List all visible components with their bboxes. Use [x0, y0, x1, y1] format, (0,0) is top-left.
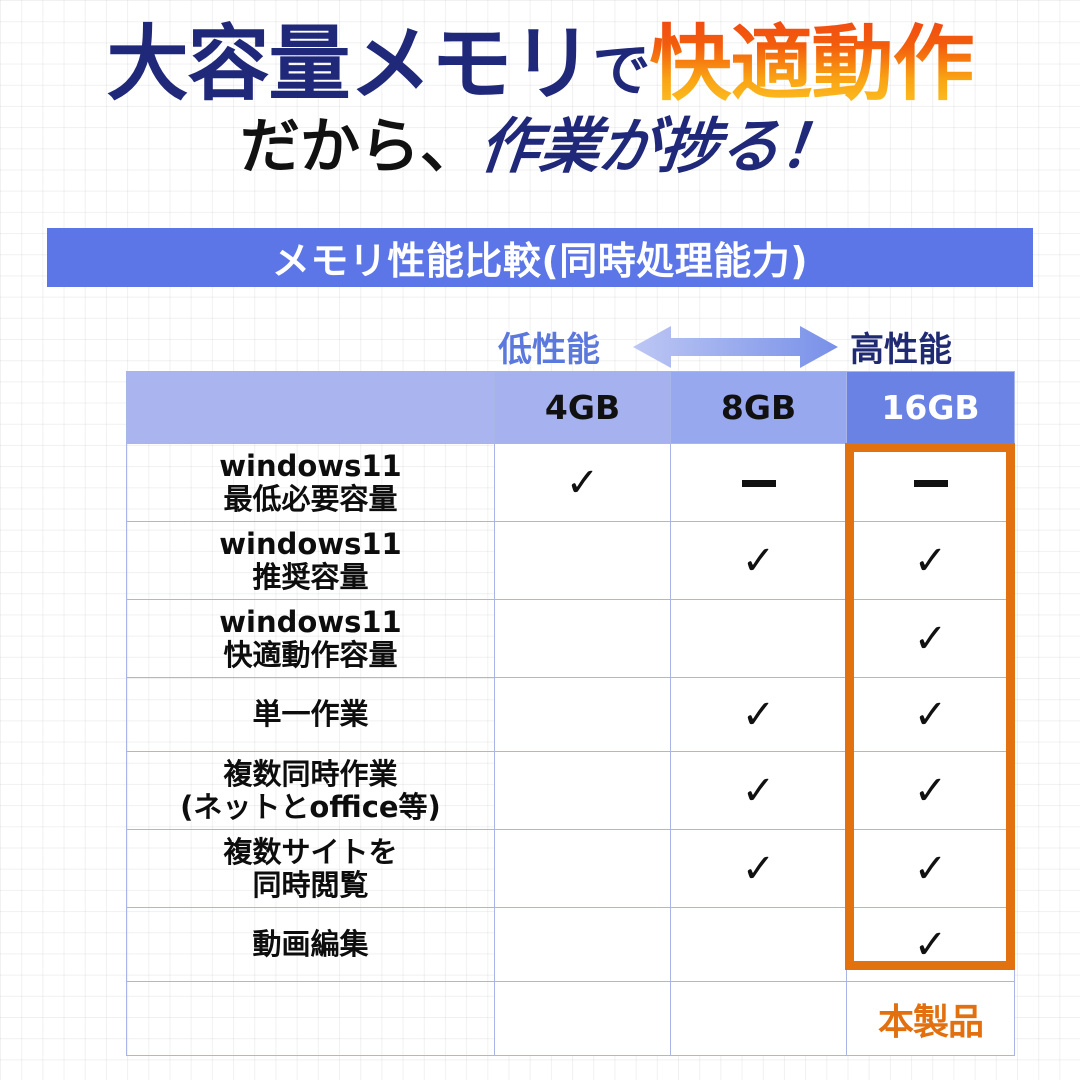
row-label-cell: 単一作業 [127, 678, 495, 752]
cell-check-16gb: ✓ [847, 752, 1015, 830]
cell-empty-4gb [495, 908, 671, 982]
check-icon: ✓ [742, 541, 776, 581]
headline-main-text: 大容量メモリ [106, 17, 592, 112]
row-label-cell: 複数同時作業(ネットとoffice等) [127, 752, 495, 830]
cell-empty-4gb [495, 600, 671, 678]
dash-icon [742, 480, 776, 487]
row-label-cell: windows11最低必要容量 [127, 444, 495, 522]
cell-empty-4gb [495, 752, 671, 830]
table-row: 動画編集✓ [127, 908, 1015, 982]
table-row: 単一作業✓✓ [127, 678, 1015, 752]
row-label-line-2: 快適動作容量 [127, 639, 494, 671]
row-label-line-1: windows11 [127, 606, 494, 638]
table-row: 複数サイトを同時閲覧✓✓ [127, 830, 1015, 908]
cell-check-16gb: ✓ [847, 600, 1015, 678]
check-icon: ✓ [742, 695, 776, 735]
table-head: 4GB 8GB 16GB [127, 372, 1015, 444]
cell-check-8gb: ✓ [671, 752, 847, 830]
table-row: windows11最低必要容量✓ [127, 444, 1015, 522]
table-row: 複数同時作業(ネットとoffice等)✓✓ [127, 752, 1015, 830]
row-label-line-1: 複数同時作業 [127, 758, 494, 790]
row-label-line-1: 単一作業 [127, 698, 494, 730]
headline-gradient-text: 快適動作 [650, 17, 974, 112]
headline-sub-emphasis: 作業が捗る！ [477, 114, 844, 180]
check-icon: ✓ [914, 771, 948, 811]
header-cell-label [127, 372, 495, 444]
cell-empty-4gb [495, 830, 671, 908]
cell-check-8gb: ✓ [671, 522, 847, 600]
high-performance-label: 高性能 [850, 322, 952, 371]
row-label-cell: 動画編集 [127, 908, 495, 982]
row-label-line-2: (ネットとoffice等) [127, 791, 494, 823]
row-label-line-1: 複数サイトを [127, 836, 494, 868]
double-arrow-left-right-icon [633, 324, 838, 370]
cell-empty-8gb [671, 908, 847, 982]
check-icon: ✓ [914, 695, 948, 735]
low-performance-label: 低性能 [498, 322, 600, 371]
cell-empty-4gb [495, 522, 671, 600]
row-label-line-2: 推奨容量 [127, 561, 494, 593]
check-icon: ✓ [566, 463, 600, 503]
cell-check-4gb: ✓ [495, 444, 671, 522]
check-icon: ✓ [914, 925, 948, 965]
row-label-line-2: 最低必要容量 [127, 483, 494, 515]
cell-dash-8gb [671, 444, 847, 522]
section-banner-title: メモリ性能比較(同時処理能力) [272, 230, 808, 285]
row-label-cell: windows11快適動作容量 [127, 600, 495, 678]
product-badge-label: 本製品 [878, 1002, 983, 1043]
check-icon: ✓ [914, 619, 948, 659]
cell-empty-4gb [495, 678, 671, 752]
table-body: windows11最低必要容量✓windows11推奨容量✓✓windows11… [127, 444, 1015, 1056]
section-banner: メモリ性能比較(同時処理能力) [47, 228, 1033, 287]
headline-particle-de: で [592, 36, 649, 104]
headline-sub-prefix: だから、 [240, 112, 480, 182]
headline-block: 大容量メモリで快適動作 だから、作業が捗る！ [0, 22, 1080, 180]
header-cell-4gb: 4GB [495, 372, 671, 444]
headline-line-1: 大容量メモリで快適動作 [0, 22, 1080, 108]
row-label-line-2: 同時閲覧 [127, 869, 494, 901]
dash-icon [914, 480, 948, 487]
cell-empty-8gb [671, 600, 847, 678]
cell-product-badge-16gb: 本製品 [847, 982, 1015, 1056]
table-row: windows11推奨容量✓✓ [127, 522, 1015, 600]
row-label-cell: windows11推奨容量 [127, 522, 495, 600]
cell-check-8gb: ✓ [671, 830, 847, 908]
row-label-line-1: windows11 [127, 450, 494, 482]
cell-check-16gb: ✓ [847, 522, 1015, 600]
cell-empty-8gb [671, 982, 847, 1056]
row-label-line-1: windows11 [127, 528, 494, 560]
row-label-cell: 複数サイトを同時閲覧 [127, 830, 495, 908]
cell-check-16gb: ✓ [847, 830, 1015, 908]
cell-check-16gb: ✓ [847, 678, 1015, 752]
header-cell-8gb: 8GB [671, 372, 847, 444]
header-cell-16gb: 16GB [847, 372, 1015, 444]
check-icon: ✓ [914, 849, 948, 889]
cell-dash-16gb [847, 444, 1015, 522]
table-row: 本製品 [127, 982, 1015, 1056]
cell-check-16gb: ✓ [847, 908, 1015, 982]
table-header-row: 4GB 8GB 16GB [127, 372, 1015, 444]
cell-check-8gb: ✓ [671, 678, 847, 752]
headline-line-2: だから、作業が捗る！ [0, 114, 1080, 180]
check-icon: ✓ [742, 849, 776, 889]
table-row: windows11快適動作容量✓ [127, 600, 1015, 678]
check-icon: ✓ [914, 541, 948, 581]
check-icon: ✓ [742, 771, 776, 811]
memory-comparison-table: 4GB 8GB 16GB windows11最低必要容量✓windows11推奨… [126, 371, 1015, 1056]
cell-empty-4gb [495, 982, 671, 1056]
row-label-cell [127, 982, 495, 1056]
performance-scale: 低性能 高性能 [0, 322, 1080, 368]
row-label-line-1: 動画編集 [127, 928, 494, 960]
